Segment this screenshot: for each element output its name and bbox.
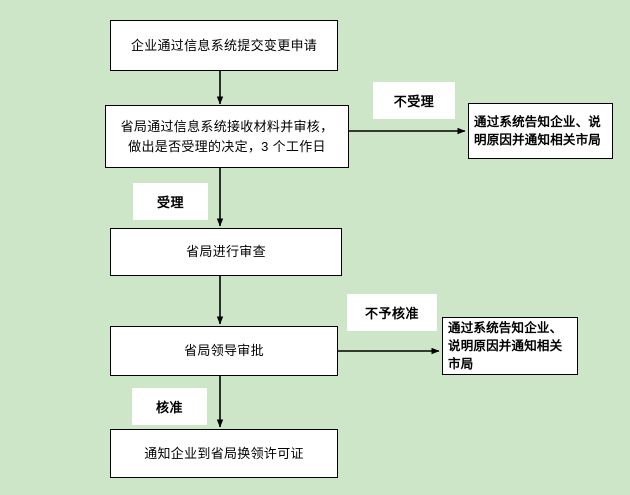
node-receive-and-review-label: 省局通过信息系统接收材料并审核， 做出是否受理的决定，3 个工作日 [115, 117, 340, 156]
branch-label-approved: 核准 [132, 388, 207, 425]
branch-label-not-approved-text: 不予核准 [365, 303, 419, 322]
branch-label-not-accepted: 不受理 [373, 82, 455, 119]
branch-label-not-approved: 不予核准 [347, 294, 437, 331]
node-notify-rejection-approval-label: 通过系统告知企业、说明原因并通知相关市局 [443, 319, 577, 373]
node-issue-license-label: 通知企业到省局换领许可证 [138, 444, 310, 464]
branch-label-not-accepted-text: 不受理 [394, 91, 435, 110]
flowchart-canvas: 企业通过信息系统提交变更申请 省局通过信息系统接收材料并审核， 做出是否受理的决… [0, 0, 630, 495]
branch-label-accepted: 受理 [133, 183, 208, 220]
node-provincial-review[interactable]: 省局进行审查 [110, 228, 342, 276]
node-receive-line-1: 省局通过信息系统接收材料并审核， [121, 119, 334, 134]
node-notify-rejection-approval[interactable]: 通过系统告知企业、说明原因并通知相关市局 [442, 317, 578, 375]
node-provincial-review-label: 省局进行审查 [180, 242, 272, 262]
node-leader-approval-label: 省局领导审批 [178, 341, 270, 361]
node-leader-approval[interactable]: 省局领导审批 [110, 326, 338, 376]
node-issue-license[interactable]: 通知企业到省局换领许可证 [110, 429, 338, 478]
node-notify-rejection-intake-label: 通过系统告知企业、说明原因并通知相关市局 [469, 113, 612, 149]
branch-label-approved-text: 核准 [156, 397, 183, 416]
node-notify-rejection-intake[interactable]: 通过系统告知企业、说明原因并通知相关市局 [468, 103, 613, 159]
branch-label-accepted-text: 受理 [157, 192, 184, 211]
node-submit-application-label: 企业通过信息系统提交变更申请 [125, 36, 323, 56]
node-receive-and-review[interactable]: 省局通过信息系统接收材料并审核， 做出是否受理的决定，3 个工作日 [105, 105, 349, 168]
node-receive-line-2: 做出是否受理的决定，3 个工作日 [128, 139, 326, 154]
node-submit-application[interactable]: 企业通过信息系统提交变更申请 [110, 20, 338, 71]
